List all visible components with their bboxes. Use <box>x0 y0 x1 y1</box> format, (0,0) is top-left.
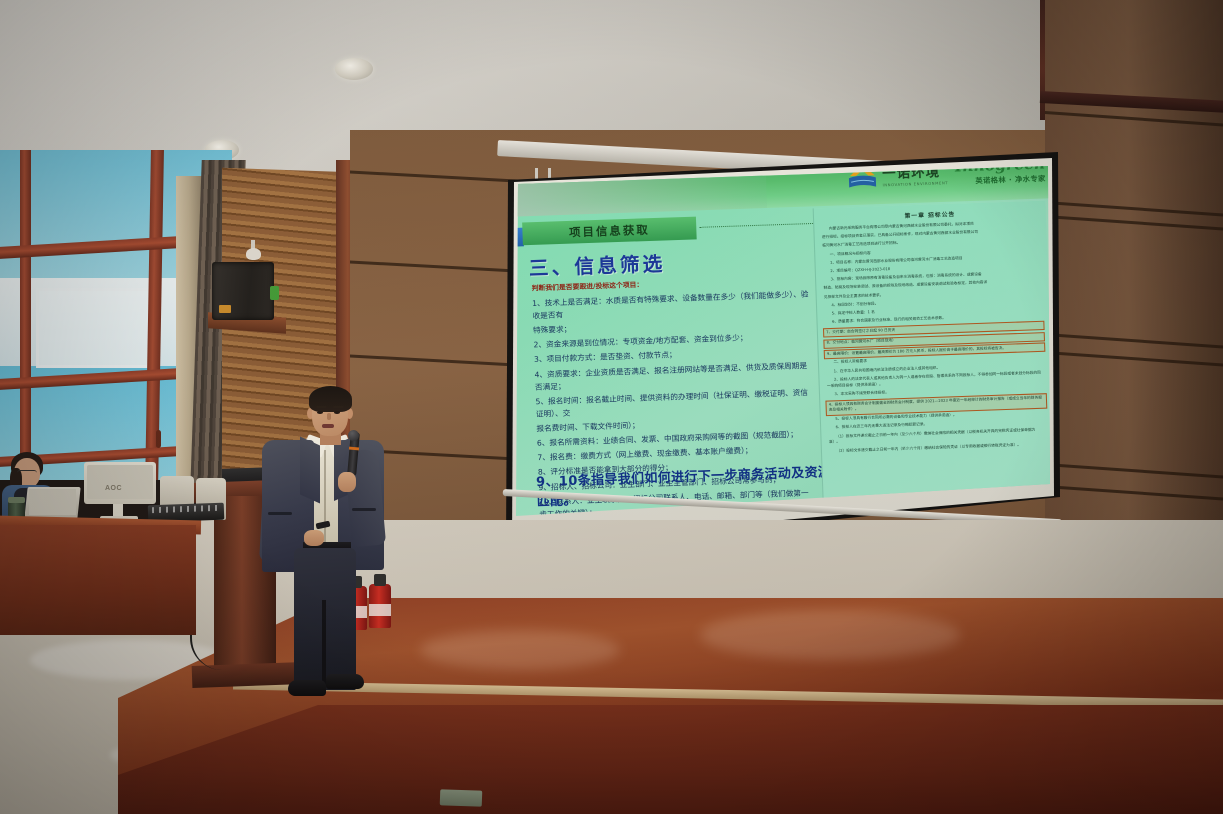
presentation-room-photo: 一诺环境 INNOVATION ENVIRONMENT Innogreen 英诺… <box>0 0 1223 814</box>
slide-section-banner: 项目信息获取 <box>522 217 697 246</box>
presenter-lapel <box>300 437 320 504</box>
panel-groove <box>1045 332 1223 350</box>
attendee-glasses-icon <box>17 470 37 476</box>
slide-heading: 三、信息筛选 <box>528 249 666 282</box>
panel-groove <box>1045 462 1223 480</box>
document-screenshot-panel: 第一章 招标公告 内蒙古新光采购服务平台有限公司受内蒙古黄河西部水业股份有限公司… <box>813 201 1050 505</box>
presenter-hair <box>309 386 352 412</box>
presenter-mouth <box>322 424 334 428</box>
presenter-hand-holding-mic <box>338 472 356 492</box>
presenter-eye <box>334 411 340 414</box>
projected-slide: 一诺环境 INNOVATION ENVIRONMENT Innogreen 英诺… <box>516 166 1050 516</box>
presenter-jacket-pocket <box>268 512 292 515</box>
presenter-shoe <box>288 680 326 696</box>
wall-indicator-light <box>270 286 279 300</box>
fire-extinguisher-handle <box>374 574 386 586</box>
slide-banner-rule <box>699 223 813 228</box>
outside-window <box>36 288 152 368</box>
window-latch[interactable] <box>156 430 161 448</box>
speaker-badge <box>219 305 231 313</box>
stage-front-face <box>118 705 1223 814</box>
panel-groove <box>1045 214 1223 232</box>
stage-reflection <box>420 630 620 670</box>
front-desk <box>0 525 196 635</box>
stage-reflection <box>700 610 960 660</box>
ceiling-downlight <box>335 58 373 80</box>
panel-groove <box>1045 350 1223 368</box>
presenter-jacket-pocket <box>352 508 376 511</box>
monitor-screen <box>87 465 153 499</box>
laptop-screen <box>29 489 76 515</box>
ceiling-camera-icon <box>246 248 261 260</box>
fire-extinguisher-label <box>369 604 391 616</box>
thermos-cap <box>8 497 25 503</box>
panel-groove <box>1045 484 1223 502</box>
panel-groove <box>1045 110 1223 128</box>
floor-socket-plate[interactable] <box>440 789 483 806</box>
presenter-nose <box>327 413 331 420</box>
presenter-shirt-placket <box>324 450 326 546</box>
presenter-hand <box>304 530 324 546</box>
logo-chinese-subtitle: INNOVATION ENVIRONMENT <box>883 181 949 187</box>
window-mullion <box>20 150 31 480</box>
monitor-brand-label: AOC <box>105 485 122 492</box>
slide-banner-label: 项目信息获取 <box>569 221 650 240</box>
presenter-shoe <box>326 674 364 689</box>
presenter-eye <box>317 411 323 414</box>
